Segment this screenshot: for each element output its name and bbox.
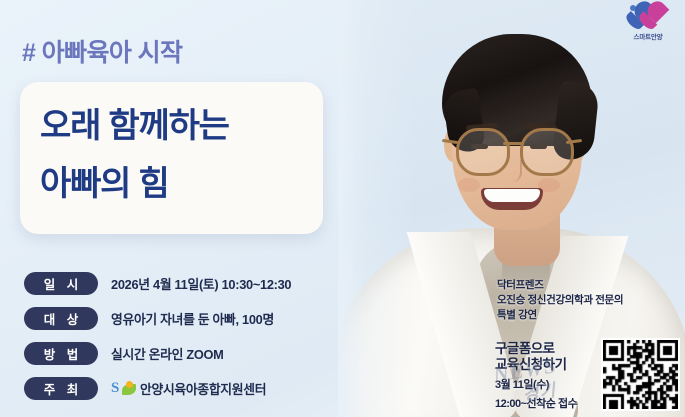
brand-logo-label: 스마트안양 xyxy=(621,31,675,41)
photo-teeth xyxy=(484,189,540,202)
speaker-info: 닥터프렌즈 오진승 정신건강의학과 전문의 특별 강연 xyxy=(497,278,677,324)
title-line-2: 아빠의 힘 xyxy=(20,144,323,202)
speaker-org: 닥터프렌즈 xyxy=(497,278,677,293)
info-label-audience: 대 상 xyxy=(24,307,98,330)
info-value-host-wrap: S 안양시육아종합지원센터 xyxy=(111,379,266,398)
apply-date: 3월 11일(수) xyxy=(495,378,610,393)
info-label-host: 주 최 xyxy=(24,377,98,400)
apply-line-2: 교육신청하기 xyxy=(495,357,610,373)
poster-canvas: 스마트안양 # 아빠육아 시작 오래 함께하는 아빠의 힘 일 시 2026년 … xyxy=(0,0,685,417)
hashtag-text: # 아빠육아 시작 xyxy=(22,33,182,69)
info-label-datetime: 일 시 xyxy=(24,272,98,295)
glasses-lens-left-icon xyxy=(456,128,510,176)
info-value-method: 실시간 온라인 ZOOM xyxy=(111,344,224,363)
info-row-method: 방 법 실시간 온라인 ZOOM xyxy=(24,338,344,369)
anyang-center-logo-icon: S xyxy=(111,381,137,397)
title-line-1: 오래 함께하는 xyxy=(20,82,323,144)
smart-anyang-mark-icon xyxy=(626,5,670,29)
apply-info[interactable]: 구글폼으로 교육신청하기 3월 11일(수) 12:00~선착순 접수 xyxy=(495,341,610,412)
info-label-method: 방 법 xyxy=(24,342,98,365)
speaker-lecture: 특별 강연 xyxy=(497,308,677,323)
info-value-datetime: 2026년 4월 11일(토) 10:30~12:30 xyxy=(111,274,291,293)
info-list: 일 시 2026년 4월 11일(토) 10:30~12:30 대 상 영유아기… xyxy=(24,268,344,408)
info-row-datetime: 일 시 2026년 4월 11일(토) 10:30~12:30 xyxy=(24,268,344,299)
apply-time: 12:00~선착순 접수 xyxy=(495,397,610,412)
brand-logo: 스마트안양 xyxy=(621,5,675,41)
qr-code-image xyxy=(603,340,678,409)
info-row-audience: 대 상 영유아기 자녀를 둔 아빠, 100명 xyxy=(24,303,344,334)
info-value-host: 안양시육아종합지원센터 xyxy=(140,379,266,398)
info-row-host: 주 최 S 안양시육아종합지원센터 xyxy=(24,373,344,404)
photo-cheek-left xyxy=(458,178,480,192)
qr-code[interactable] xyxy=(601,338,680,411)
photo-hair xyxy=(442,34,592,146)
glasses-bridge-icon xyxy=(503,142,522,145)
host-logo-letter-icon: S xyxy=(111,381,119,396)
title-card: 오래 함께하는 아빠의 힘 xyxy=(20,82,323,234)
speaker-name-title: 오진승 정신건강의학과 전문의 xyxy=(497,293,677,308)
photo-smile xyxy=(481,188,543,210)
glasses-lens-right-icon xyxy=(520,128,574,176)
apply-line-1: 구글폼으로 xyxy=(495,341,610,357)
host-logo-leaf-icon xyxy=(122,384,136,395)
info-value-audience: 영유아기 자녀를 둔 아빠, 100명 xyxy=(111,309,274,328)
